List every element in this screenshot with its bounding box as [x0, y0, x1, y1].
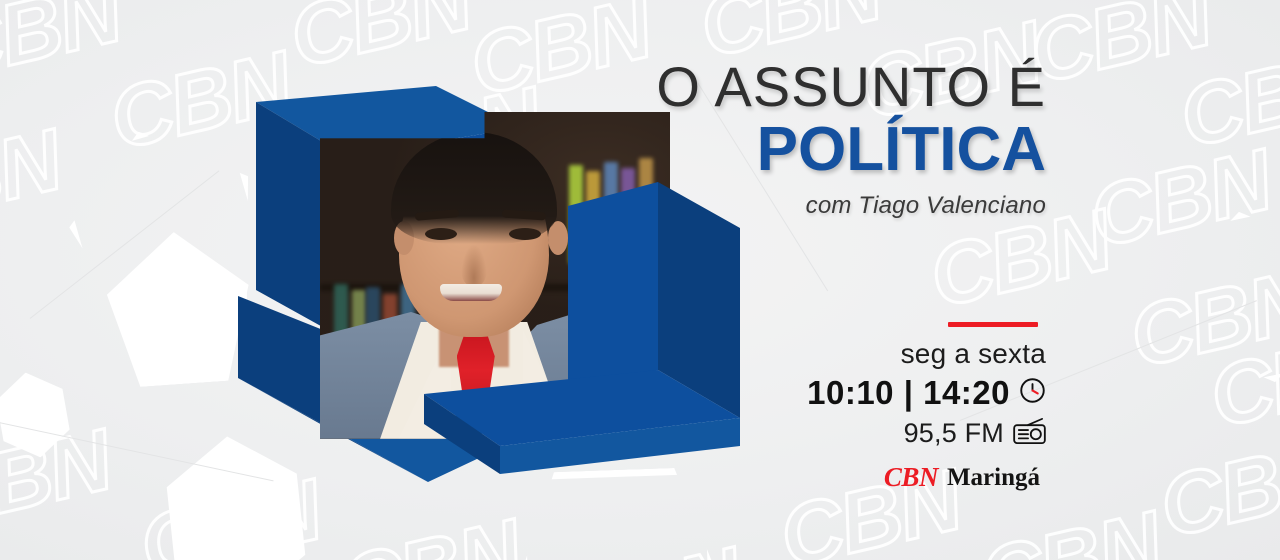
portrait-image — [320, 112, 670, 442]
watermark-cbn: CBN — [1081, 131, 1279, 268]
watermark-cbn: CBN — [281, 0, 479, 88]
watermark-cbn: CBN — [331, 501, 529, 560]
city-wordmark: Maringá — [947, 464, 1040, 492]
program-host: com Tiago Valenciano — [626, 192, 1046, 220]
broadcast-times-row: 10:10 | 14:20 — [790, 374, 1046, 412]
hexagon-outline-right — [1164, 196, 1280, 398]
station-logo: CBN Maringá — [790, 462, 1040, 493]
host-portrait — [320, 112, 670, 442]
watermark-cbn: CBN — [0, 111, 69, 248]
program-title-line2: POLÍTICA — [626, 117, 1046, 182]
clock-icon — [1019, 377, 1046, 409]
schedule-block: seg a sexta 10:10 | 14:20 95,5 FM — [790, 322, 1046, 493]
accent-bar — [948, 322, 1038, 327]
watermark-cbn: CBN — [551, 529, 749, 560]
cbn-wordmark: CBN — [884, 462, 938, 493]
frequency-row: 95,5 FM — [790, 417, 1046, 450]
broadcast-times: 10:10 | 14:20 — [807, 374, 1010, 412]
hexagon-solid-small — [0, 366, 79, 464]
radio-icon — [1013, 417, 1046, 450]
broadcast-days: seg a sexta — [790, 338, 1046, 370]
program-title-line1: O ASSUNTO É — [626, 58, 1046, 115]
hairline-d — [30, 170, 220, 319]
watermark-cbn: CBN — [1201, 311, 1280, 448]
watermark-cbn: CBN — [1171, 31, 1280, 168]
watermark-cbn: CBN — [1121, 251, 1280, 388]
person-figure — [320, 112, 670, 442]
watermark-cbn: CBN — [971, 493, 1169, 560]
radio-program-banner: CBNCBNCBNCBNCBNCBNCBNCBNCBNCBNCBNCBNCBNC… — [0, 0, 1280, 560]
watermark-cbn: CBN — [1021, 0, 1219, 104]
frequency-label: 95,5 FM — [904, 418, 1004, 449]
program-headline: O ASSUNTO É POLÍTICA com Tiago Valencian… — [626, 58, 1046, 220]
watermark-cbn: CBN — [1151, 421, 1280, 558]
watermark-cbn: CBN — [0, 411, 119, 548]
watermark-cbn: CBN — [0, 0, 129, 100]
